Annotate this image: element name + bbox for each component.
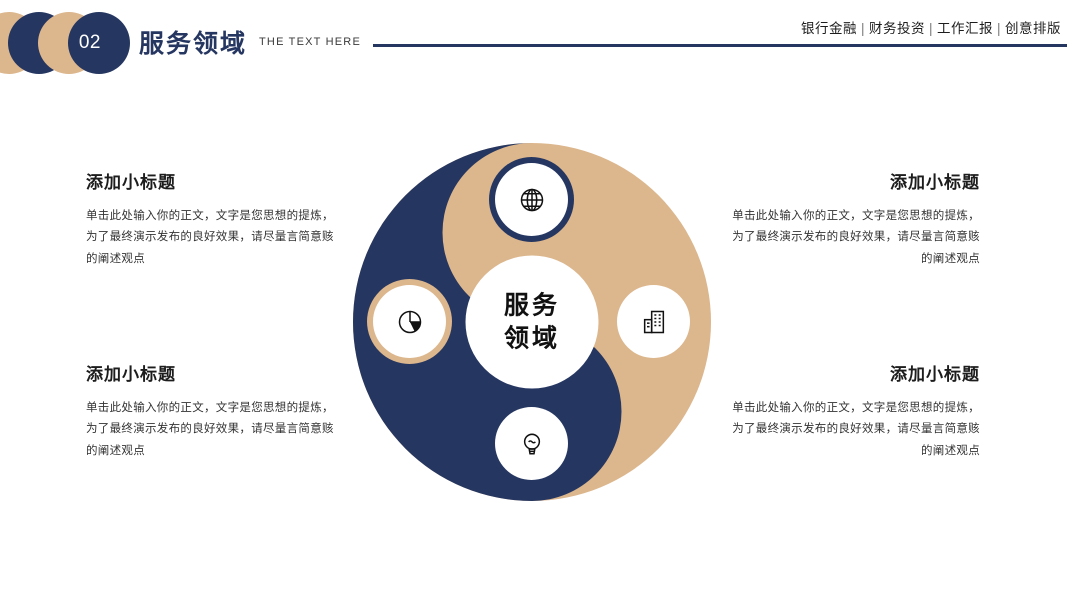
diagram-node-left[interactable] [373,285,446,358]
content-block-heading: 添加小标题 [728,360,980,385]
service-areas-diagram: 服务 领域 [353,143,711,501]
page-subtitle: THE TEXT HERE [259,36,361,48]
globe-icon [518,186,546,214]
section-number-label: 02 [79,32,101,54]
tagline-separator-0: | [857,21,869,36]
tagline-item-0: 银行金融 [801,21,857,36]
content-block-bottom-left: 添加小标题 单击此处输入你的正文，文字是您思想的提炼，为了最终演示发布的良好效果… [86,360,338,462]
header-divider-line [373,44,1067,47]
header-tagline: 银行金融|财务投资|工作汇报|创意排版 [801,17,1061,37]
content-block-body: 单击此处输入你的正文，文字是您思想的提炼，为了最终演示发布的良好效果，请尽量言简… [728,206,980,270]
tagline-separator-2: | [993,21,1005,36]
diagram-node-bottom[interactable] [495,407,568,480]
content-block-heading: 添加小标题 [728,168,980,193]
page-title: 服务领域 [139,24,247,60]
slide-header: 02 服务领域 THE TEXT HERE 银行金融|财务投资|工作汇报|创意排… [0,0,1067,90]
diagram-center-line-2: 领域 [504,322,560,355]
content-block-top-right: 添加小标题 单击此处输入你的正文，文字是您思想的提炼，为了最终演示发布的良好效果… [728,168,980,270]
tagline-item-1: 财务投资 [869,21,925,36]
content-block-body: 单击此处输入你的正文，文字是您思想的提炼，为了最终演示发布的良好效果，请尽量言简… [86,206,338,270]
lightbulb-icon [518,430,546,458]
content-block-heading: 添加小标题 [86,168,338,193]
pie-chart-icon [396,308,424,336]
tagline-item-2: 工作汇报 [937,21,993,36]
building-icon [640,308,668,336]
content-block-top-left: 添加小标题 单击此处输入你的正文，文字是您思想的提炼，为了最终演示发布的良好效果… [86,168,338,270]
diagram-node-right[interactable] [617,285,690,358]
diagram-center-hub: 服务 领域 [466,256,599,389]
tagline-separator-1: | [925,21,937,36]
diagram-node-top[interactable] [495,163,568,236]
diagram-center-line-1: 服务 [504,289,560,322]
content-block-body: 单击此处输入你的正文，文字是您思想的提炼，为了最终演示发布的良好效果，请尽量言简… [728,398,980,462]
tagline-item-3: 创意排版 [1005,21,1061,36]
section-number-badge: 02 [0,12,118,74]
content-block-bottom-right: 添加小标题 单击此处输入你的正文，文字是您思想的提炼，为了最终演示发布的良好效果… [728,360,980,462]
content-block-body: 单击此处输入你的正文，文字是您思想的提炼，为了最终演示发布的良好效果，请尽量言简… [86,398,338,462]
content-block-heading: 添加小标题 [86,360,338,385]
